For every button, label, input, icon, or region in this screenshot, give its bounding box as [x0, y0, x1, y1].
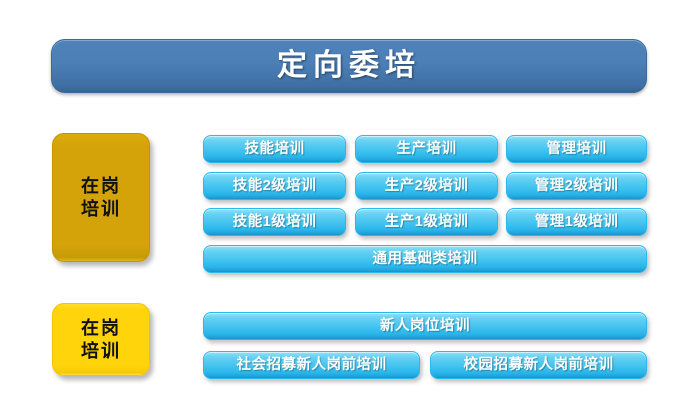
- pill-label: 管理培训: [547, 142, 607, 157]
- pill-skill-training[interactable]: 技能培训: [203, 135, 346, 163]
- pill-new-hire-position-training[interactable]: 新人岗位培训: [203, 312, 647, 340]
- diagram-canvas: 定向委培 在岗 培训 技能培训 生产培训 管理培训 技能2级培训 生产2级培训 …: [0, 0, 699, 405]
- pill-production-level-1-training[interactable]: 生产1级培训: [355, 208, 498, 236]
- pill-label: 社会招募新人岗前培训: [237, 358, 387, 373]
- pill-general-foundation-training[interactable]: 通用基础类培训: [203, 245, 647, 273]
- category-label-line-2: 培训: [81, 198, 121, 221]
- pill-skill-level-1-training[interactable]: 技能1级培训: [203, 208, 346, 236]
- category-label-line-1: 在岗: [81, 175, 121, 198]
- pill-label: 管理1级培训: [535, 215, 619, 230]
- category-label-line-1: 在岗: [81, 317, 121, 340]
- diagram-title-banner: 定向委培: [51, 39, 647, 93]
- pill-production-level-2-training[interactable]: 生产2级培训: [355, 172, 498, 200]
- pill-production-training[interactable]: 生产培训: [355, 135, 498, 163]
- pill-management-training[interactable]: 管理培训: [506, 135, 647, 163]
- pill-label: 校园招募新人岗前培训: [464, 358, 614, 373]
- pill-label: 技能1级培训: [233, 215, 317, 230]
- pill-label: 生产培训: [397, 142, 457, 157]
- pill-label: 新人岗位培训: [380, 319, 470, 334]
- category-label-line-2: 培训: [81, 340, 121, 363]
- pill-label: 生产1级培训: [385, 215, 469, 230]
- pill-skill-level-2-training[interactable]: 技能2级培训: [203, 172, 346, 200]
- pill-label: 通用基础类培训: [373, 252, 478, 267]
- category-box-new-hire-training[interactable]: 在岗 培训: [52, 303, 150, 376]
- pill-label: 技能2级培训: [233, 179, 317, 194]
- pill-label: 技能培训: [245, 142, 305, 157]
- pill-management-level-2-training[interactable]: 管理2级培训: [506, 172, 647, 200]
- pill-campus-recruit-pre-job-training[interactable]: 校园招募新人岗前培训: [430, 351, 647, 379]
- pill-social-recruit-pre-job-training[interactable]: 社会招募新人岗前培训: [203, 351, 420, 379]
- pill-label: 生产2级培训: [385, 179, 469, 194]
- category-box-on-job-training[interactable]: 在岗 培训: [52, 133, 150, 262]
- pill-label: 管理2级培训: [535, 179, 619, 194]
- pill-management-level-1-training[interactable]: 管理1级培训: [506, 208, 647, 236]
- diagram-title-text: 定向委培: [277, 51, 421, 81]
